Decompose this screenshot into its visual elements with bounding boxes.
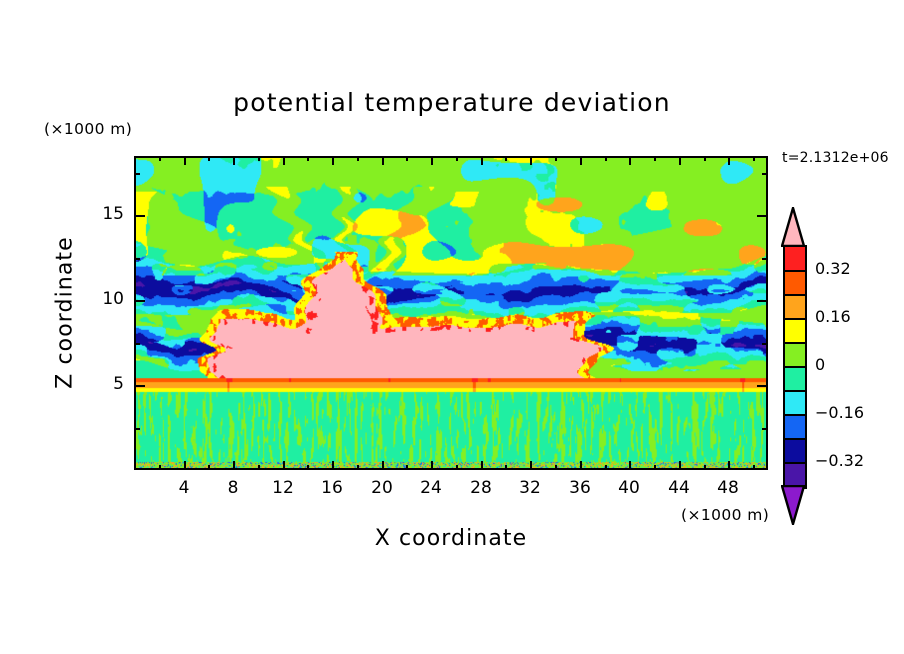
- x-major-tick: [629, 461, 631, 470]
- y-minor-tick: [134, 343, 140, 345]
- colorbar-band-divider: [785, 342, 805, 344]
- x-minor-tick: [357, 465, 359, 470]
- contour-plot-area: [134, 156, 768, 470]
- page-title: potential temperature deviation: [0, 88, 904, 117]
- colorbar-band-divider: [785, 390, 805, 392]
- x-major-tick-top: [332, 156, 334, 165]
- x-tick-label: 16: [312, 478, 352, 498]
- x-tick-label: 44: [659, 478, 699, 498]
- y-major-tick: [134, 385, 145, 387]
- y-minor-tick-right: [762, 258, 768, 260]
- x-major-tick-top: [184, 156, 186, 165]
- colorbar-band-divider: [785, 366, 805, 368]
- colorbar-band: [785, 295, 805, 319]
- colorbar-band-divider: [785, 414, 805, 416]
- colorbar-tick-label: 0: [815, 355, 825, 374]
- x-minor-tick-top: [654, 156, 656, 161]
- x-major-tick: [431, 461, 433, 470]
- x-major-tick: [382, 461, 384, 470]
- x-tick-label: 8: [213, 478, 253, 498]
- colorbar-band: [785, 247, 805, 271]
- y-tick-label: 15: [78, 204, 124, 224]
- x-tick-label: 36: [560, 478, 600, 498]
- colorbar-tick-label: 0.32: [815, 259, 851, 278]
- x-minor-tick: [605, 465, 607, 470]
- x-major-tick-top: [283, 156, 285, 165]
- x-minor-tick: [258, 465, 260, 470]
- x-major-tick: [580, 461, 582, 470]
- y-minor-tick-right: [762, 343, 768, 345]
- x-major-tick: [283, 461, 285, 470]
- x-minor-tick: [505, 465, 507, 470]
- x-minor-tick-top: [406, 156, 408, 161]
- y-axis-title: Z coordinate: [53, 213, 78, 413]
- x-minor-tick-top: [456, 156, 458, 161]
- y-major-tick: [134, 215, 145, 217]
- y-major-tick: [134, 300, 145, 302]
- x-major-tick: [728, 461, 730, 470]
- colorbar-band-divider: [785, 462, 805, 464]
- y-axis-units-label: (×1000 m): [44, 120, 132, 138]
- colorbar-band: [785, 463, 805, 487]
- x-minor-tick-top: [307, 156, 309, 161]
- y-minor-tick: [134, 258, 140, 260]
- x-major-tick-top: [580, 156, 582, 165]
- colorbar-tick-label: −0.16: [815, 403, 864, 422]
- x-major-tick: [233, 461, 235, 470]
- x-minor-tick-top: [357, 156, 359, 161]
- contour-field: [136, 158, 766, 468]
- x-minor-tick: [159, 465, 161, 470]
- x-major-tick: [184, 461, 186, 470]
- colorbar-band-divider: [785, 318, 805, 320]
- x-tick-label: 48: [708, 478, 748, 498]
- x-minor-tick-top: [753, 156, 755, 161]
- colorbar-band: [785, 319, 805, 343]
- x-minor-tick-top: [159, 156, 161, 161]
- colorbar-band-divider: [785, 294, 805, 296]
- x-major-tick-top: [679, 156, 681, 165]
- x-minor-tick: [406, 465, 408, 470]
- x-minor-tick: [307, 465, 309, 470]
- x-axis-units-label: (×1000 m): [681, 506, 769, 524]
- colorbar-band: [785, 271, 805, 295]
- figure-canvas: potential temperature deviation (×1000 m…: [0, 0, 904, 654]
- colorbar-band: [785, 343, 805, 367]
- x-major-tick: [481, 461, 483, 470]
- colorbar-tick-label: −0.32: [815, 451, 864, 470]
- colorbar-band: [785, 415, 805, 439]
- x-minor-tick-top: [704, 156, 706, 161]
- colorbar-band: [785, 367, 805, 391]
- colorbar-bands: [783, 245, 807, 489]
- x-minor-tick: [456, 465, 458, 470]
- x-minor-tick: [555, 465, 557, 470]
- x-major-tick-top: [382, 156, 384, 165]
- x-minor-tick-top: [605, 156, 607, 161]
- x-tick-label: 4: [164, 478, 204, 498]
- x-minor-tick: [208, 465, 210, 470]
- x-minor-tick-top: [208, 156, 210, 161]
- y-major-tick-right: [757, 300, 768, 302]
- x-axis-title: X coordinate: [134, 526, 768, 551]
- x-tick-label: 40: [609, 478, 649, 498]
- x-major-tick-top: [530, 156, 532, 165]
- x-tick-label: 24: [411, 478, 451, 498]
- x-major-tick-top: [431, 156, 433, 165]
- colorbar-band-divider: [785, 438, 805, 440]
- x-tick-label: 32: [510, 478, 550, 498]
- x-minor-tick-top: [505, 156, 507, 161]
- y-major-tick-right: [757, 215, 768, 217]
- x-minor-tick: [704, 465, 706, 470]
- x-major-tick-top: [728, 156, 730, 165]
- colorbar: [781, 207, 805, 525]
- colorbar-tick-label: 0.16: [815, 307, 851, 326]
- x-tick-label: 28: [461, 478, 501, 498]
- x-major-tick-top: [233, 156, 235, 165]
- x-major-tick-top: [481, 156, 483, 165]
- y-minor-tick-right: [762, 428, 768, 430]
- colorbar-band-divider: [785, 270, 805, 272]
- time-annotation: t=2.1312e+06: [782, 150, 889, 166]
- y-minor-tick-right: [762, 173, 768, 175]
- colorbar-band: [785, 391, 805, 415]
- x-minor-tick: [654, 465, 656, 470]
- x-major-tick: [679, 461, 681, 470]
- x-major-tick-top: [629, 156, 631, 165]
- colorbar-over-arrow: [781, 207, 805, 247]
- x-tick-label: 12: [263, 478, 303, 498]
- y-minor-tick: [134, 173, 140, 175]
- x-major-tick: [530, 461, 532, 470]
- y-tick-label: 5: [78, 374, 124, 394]
- x-minor-tick-top: [555, 156, 557, 161]
- x-tick-label: 20: [362, 478, 402, 498]
- x-minor-tick-top: [258, 156, 260, 161]
- y-tick-label: 10: [78, 289, 124, 309]
- y-minor-tick: [134, 428, 140, 430]
- colorbar-under-arrow: [781, 485, 805, 525]
- y-major-tick-right: [757, 385, 768, 387]
- x-major-tick: [332, 461, 334, 470]
- x-minor-tick: [753, 465, 755, 470]
- colorbar-band: [785, 439, 805, 463]
